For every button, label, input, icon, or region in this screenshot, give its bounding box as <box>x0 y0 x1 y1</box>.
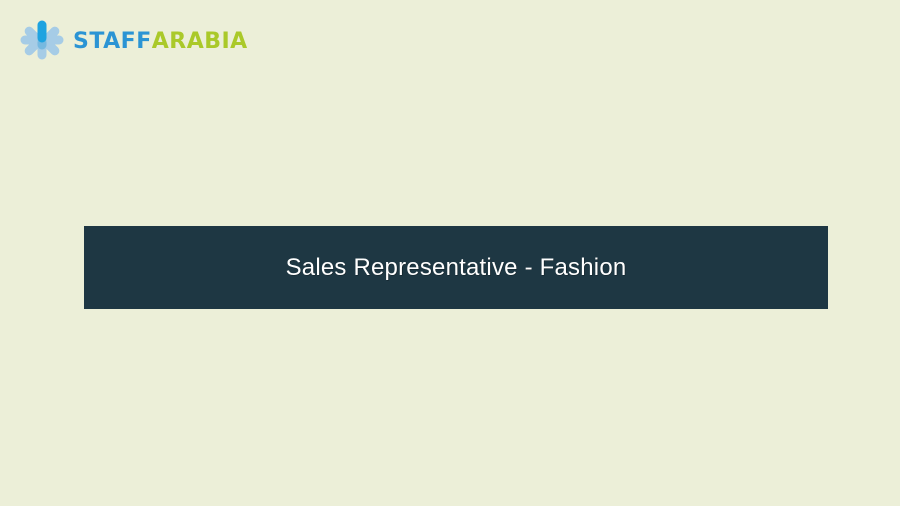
title-banner: Sales Representative - Fashion <box>84 226 828 309</box>
staffarabia-flower-icon <box>16 12 68 64</box>
slide-canvas: staffarabia Sales Representative - Fashi… <box>0 0 900 506</box>
staffarabia-wordmark: staffarabia <box>73 23 248 54</box>
staffarabia-logo[interactable]: staffarabia <box>16 14 248 62</box>
wordmark-staff: staff <box>73 23 152 54</box>
wordmark-arabia: arabia <box>152 23 248 54</box>
page-title: Sales Representative - Fashion <box>286 254 627 282</box>
